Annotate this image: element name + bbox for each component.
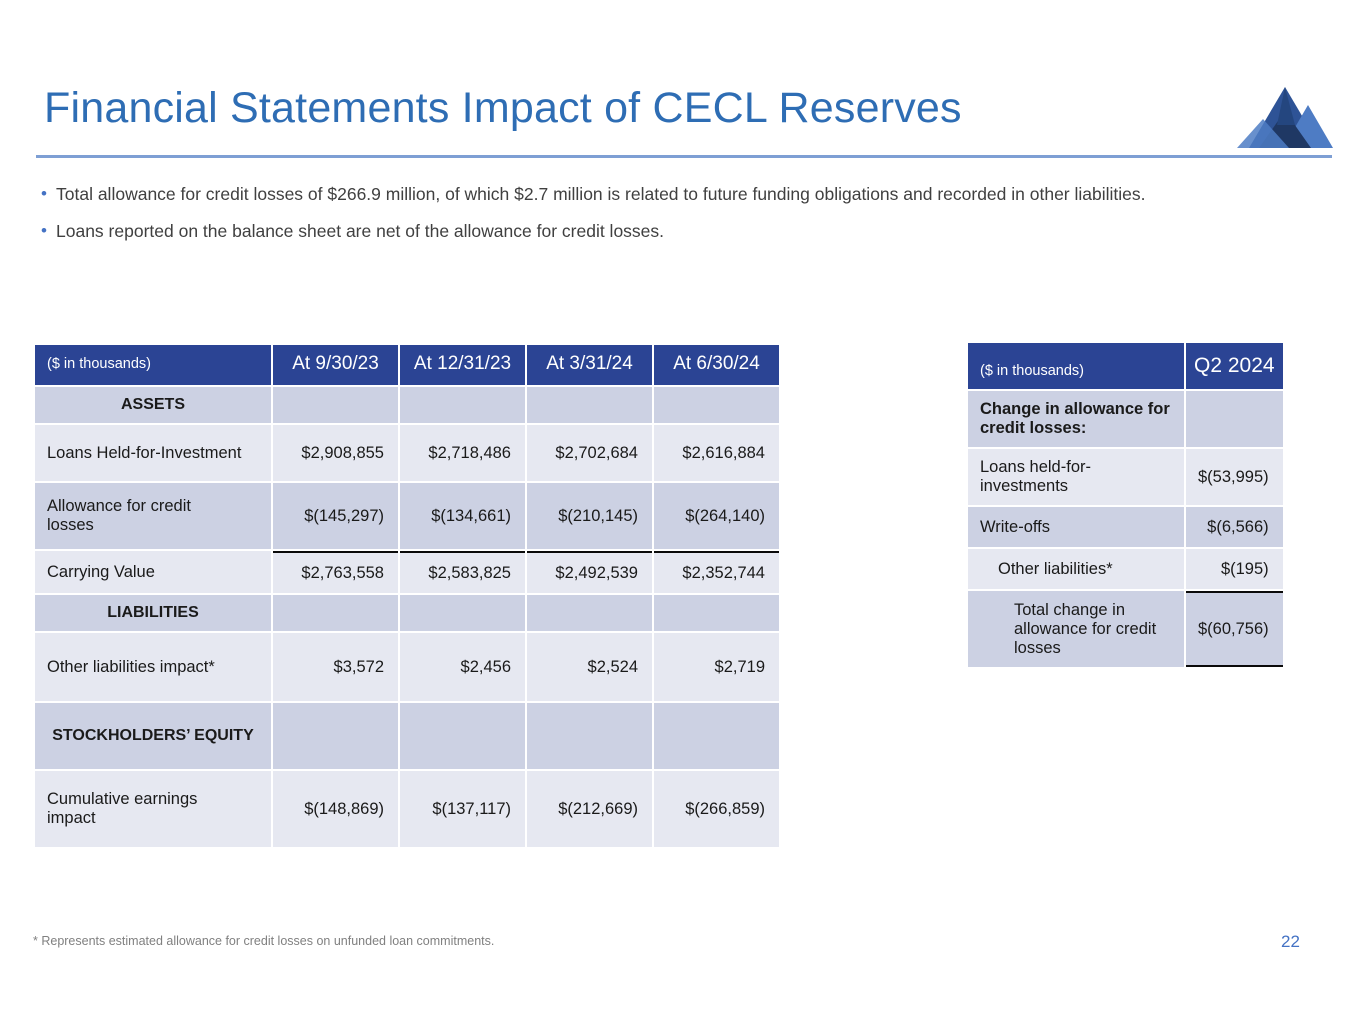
row-value-cell (527, 703, 652, 769)
row-value (273, 604, 398, 622)
row-value: $(148,869) (273, 791, 398, 828)
row-label-cell: Cumulative earnings impact (35, 771, 271, 847)
bullet-item: • Total allowance for credit losses of $… (32, 181, 1334, 208)
allowance-change-table: ($ in thousands) Q2 2024 Change in allow… (966, 341, 1285, 669)
row-value-cell: $2,492,539 (527, 551, 652, 593)
row-value: $(145,297) (273, 498, 398, 535)
row-value-cell (654, 703, 779, 769)
row-label: Carrying Value (35, 554, 271, 591)
row-value (400, 396, 525, 414)
row-label-cell: Allowance for credit losses (35, 483, 271, 549)
row-value-cell: $(148,869) (273, 771, 398, 847)
row-value: $(134,661) (400, 498, 525, 535)
row-value-cell (654, 595, 779, 631)
page-title: Financial Statements Impact of CECL Rese… (44, 84, 962, 133)
row-label: Other liabilities impact* (35, 649, 271, 686)
row-value-cell: $(53,995) (1186, 449, 1283, 505)
row-value-cell: $(145,297) (273, 483, 398, 549)
row-value: $2,763,558 (273, 555, 398, 592)
table-row: Carrying Value $2,763,558 $2,583,825 $2,… (35, 551, 779, 593)
row-label-cell: STOCKHOLDERS’ EQUITY (35, 703, 271, 769)
row-value-cell: $(60,756) (1186, 591, 1283, 667)
row-value-cell: $2,908,855 (273, 425, 398, 481)
row-label-cell: ASSETS (35, 387, 271, 423)
row-value-cell: $(137,117) (400, 771, 525, 847)
bullet-list: • Total allowance for credit losses of $… (32, 181, 1334, 255)
row-value (527, 396, 652, 414)
row-value-cell: $(264,140) (654, 483, 779, 549)
row-value: $2,492,539 (527, 555, 652, 592)
row-value (527, 727, 652, 745)
row-value: $2,718,486 (400, 435, 525, 472)
row-value-cell: $2,702,684 (527, 425, 652, 481)
row-value (654, 727, 779, 745)
row-label-cell: Loans Held-for-Investment (35, 425, 271, 481)
row-value: $(266,859) (654, 791, 779, 828)
row-label-cell: Write-offs (968, 507, 1184, 547)
header-cell-date-2: At 12/31/23 (400, 345, 525, 385)
row-label-cell: Change in allowance for credit losses: (968, 391, 1184, 447)
bullet-item: • Loans reported on the balance sheet ar… (32, 218, 1334, 245)
header-label-units: ($ in thousands) (35, 348, 271, 382)
table-row: Loans Held-for-Investment $2,908,855 $2,… (35, 425, 779, 481)
row-value: $2,352,744 (654, 555, 779, 592)
row-label: Other liabilities* (968, 551, 1184, 588)
row-value: $(210,145) (527, 498, 652, 535)
row-value-cell (273, 595, 398, 631)
row-value: $(60,756) (1186, 611, 1283, 648)
header-label-date-1: At 9/30/23 (273, 345, 398, 385)
row-label: Cumulative earnings impact (35, 781, 239, 837)
header-cell-period: Q2 2024 (1186, 343, 1283, 389)
row-value: $(195) (1186, 551, 1283, 588)
row-label: LIABILITIES (35, 595, 271, 631)
row-value: $2,524 (527, 649, 652, 686)
table-row: Change in allowance for credit losses: (968, 391, 1283, 447)
row-value-cell (400, 595, 525, 631)
table-row: Allowance for credit losses $(145,297) $… (35, 483, 779, 549)
header-cell-date-4: At 6/30/24 (654, 345, 779, 385)
row-value (273, 396, 398, 414)
row-value-cell: $3,572 (273, 633, 398, 701)
row-value (400, 727, 525, 745)
row-value: $2,583,825 (400, 555, 525, 592)
row-value: $3,572 (273, 649, 398, 686)
mountain-logo-icon (1233, 85, 1333, 150)
row-value: $(212,669) (527, 791, 652, 828)
row-value-cell: $2,583,825 (400, 551, 525, 593)
balance-sheet-table: ($ in thousands) At 9/30/23 At 12/31/23 … (33, 343, 781, 849)
row-value-cell (654, 387, 779, 423)
row-value-cell: $2,456 (400, 633, 525, 701)
header-label-period: Q2 2024 (1186, 348, 1283, 384)
row-label-cell: Carrying Value (35, 551, 271, 593)
row-value-cell: $2,524 (527, 633, 652, 701)
row-label: Change in allowance for credit losses: (968, 391, 1182, 447)
row-value: $2,616,884 (654, 435, 779, 472)
bullet-dot-icon: • (32, 218, 56, 244)
row-value-cell: $(6,566) (1186, 507, 1283, 547)
row-value: $2,719 (654, 649, 779, 686)
row-label-cell: Other liabilities* (968, 549, 1184, 589)
row-label-cell: Other liabilities impact* (35, 633, 271, 701)
footnote: * Represents estimated allowance for cre… (33, 934, 494, 948)
table-header-row: ($ in thousands) Q2 2024 (968, 343, 1283, 389)
row-label: Total change in allowance for credit los… (968, 592, 1176, 667)
row-label-cell: LIABILITIES (35, 595, 271, 631)
row-value-cell (527, 595, 652, 631)
row-value-cell: $2,719 (654, 633, 779, 701)
header-label-date-4: At 6/30/24 (654, 345, 779, 385)
row-value: $(53,995) (1186, 459, 1283, 496)
table-row: LIABILITIES (35, 595, 779, 631)
row-label-cell: Total change in allowance for credit los… (968, 591, 1184, 667)
row-value (527, 604, 652, 622)
row-label: Loans Held-for-Investment (35, 435, 271, 472)
row-label: Loans held-for-investments (968, 449, 1184, 505)
header-cell-units: ($ in thousands) (968, 343, 1184, 389)
table-row: Other liabilities* $(195) (968, 549, 1283, 589)
row-value-cell: $(210,145) (527, 483, 652, 549)
row-value: $2,908,855 (273, 435, 398, 472)
row-value-cell: $2,616,884 (654, 425, 779, 481)
header-label-units: ($ in thousands) (968, 355, 1184, 389)
row-value-cell (527, 387, 652, 423)
row-value-cell (273, 703, 398, 769)
bullet-dot-icon: • (32, 181, 56, 207)
table-row: ASSETS (35, 387, 779, 423)
row-value (273, 727, 398, 745)
table-row: Loans held-for-investments $(53,995) (968, 449, 1283, 505)
row-value-cell: $(195) (1186, 549, 1283, 589)
row-value (400, 604, 525, 622)
row-value-cell (1186, 391, 1283, 447)
page-number: 22 (1281, 932, 1300, 952)
bullet-text: Loans reported on the balance sheet are … (56, 218, 1334, 245)
bullet-text: Total allowance for credit losses of $26… (56, 181, 1334, 208)
row-label: Write-offs (968, 509, 1184, 546)
header-cell-date-3: At 3/31/24 (527, 345, 652, 385)
table-row: Other liabilities impact* $3,572 $2,456 … (35, 633, 779, 701)
row-value: $(6,566) (1186, 509, 1283, 546)
row-value: $2,702,684 (527, 435, 652, 472)
header-label-date-2: At 12/31/23 (400, 345, 525, 385)
row-value: $(264,140) (654, 498, 779, 535)
row-value-cell: $2,763,558 (273, 551, 398, 593)
row-value (654, 604, 779, 622)
row-value (654, 396, 779, 414)
row-value: $2,456 (400, 649, 525, 686)
title-divider (36, 155, 1332, 158)
table-row: Write-offs $(6,566) (968, 507, 1283, 547)
header-cell-date-1: At 9/30/23 (273, 345, 398, 385)
row-value-cell: $(134,661) (400, 483, 525, 549)
row-label: STOCKHOLDERS’ EQUITY (35, 718, 271, 754)
row-value-cell: $2,718,486 (400, 425, 525, 481)
table-row: Cumulative earnings impact $(148,869) $(… (35, 771, 779, 847)
table-header-row: ($ in thousands) At 9/30/23 At 12/31/23 … (35, 345, 779, 385)
row-value-cell (400, 703, 525, 769)
row-label: ASSETS (35, 387, 271, 423)
row-value-cell: $2,352,744 (654, 551, 779, 593)
row-value: $(137,117) (400, 791, 525, 828)
table-row: Total change in allowance for credit los… (968, 591, 1283, 667)
header-cell-units: ($ in thousands) (35, 345, 271, 385)
header-label-date-3: At 3/31/24 (527, 345, 652, 385)
row-value-cell: $(212,669) (527, 771, 652, 847)
row-value-cell: $(266,859) (654, 771, 779, 847)
row-value-cell (273, 387, 398, 423)
row-value-cell (400, 387, 525, 423)
table-row: STOCKHOLDERS’ EQUITY (35, 703, 779, 769)
row-value (1186, 410, 1283, 428)
row-label: Allowance for credit losses (35, 488, 229, 544)
row-label-cell: Loans held-for-investments (968, 449, 1184, 505)
